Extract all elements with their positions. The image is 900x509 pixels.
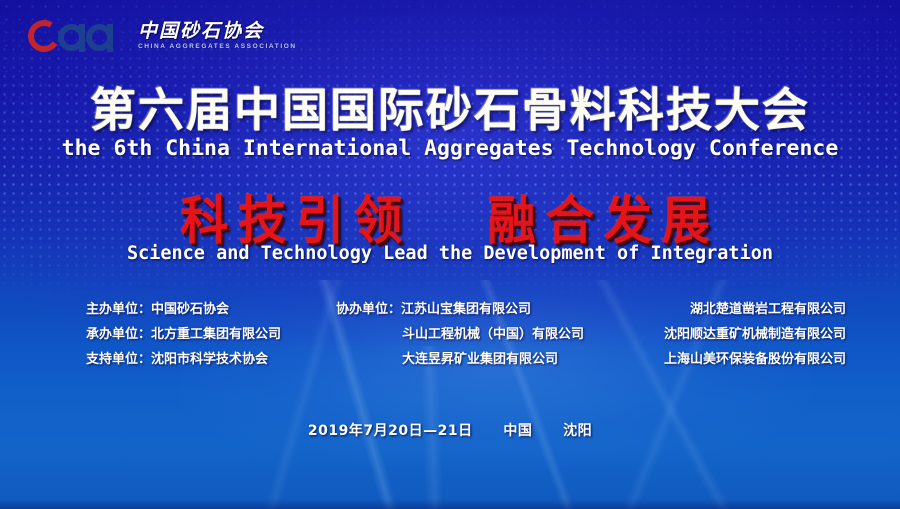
organizer-line: 主办单位：中国砂石协会 [86,297,336,322]
event-city: 沈阳 [563,423,592,439]
event-country: 中国 [503,423,532,439]
logo-english-name: CHINA AGGREGATES ASSOCIATION [138,43,297,50]
organizers-column-1: 主办单位：中国砂石协会 承办单位：北方重工集团有限公司 支持单位：沈阳市科学技术… [86,297,336,372]
background-bottom-vignette [0,499,900,509]
organizer-line: 协办单位：江苏山宝集团有限公司 [336,297,621,322]
event-details: 2019年7月20日—21日 中国 沈阳 [0,420,900,440]
organizer-line: 大连昱昇矿业集团有限公司 [336,347,621,372]
slogan-english: Science and Technology Lead the Developm… [0,243,900,264]
organizer-line: 承办单位：北方重工集团有限公司 [86,322,336,347]
logo-letter-a1-stem-icon [79,24,85,52]
logo-letter-a2-stem-icon [107,24,113,52]
organizers-column-2: 协办单位：江苏山宝集团有限公司 斗山工程机械（中国）有限公司 大连昱昇矿业集团有… [336,297,621,372]
event-date: 2019年7月20日—21日 [308,423,473,439]
organizer-line: 上海山美环保装备股份有限公司 [621,347,846,372]
organizers-block: 主办单位：中国砂石协会 承办单位：北方重工集团有限公司 支持单位：沈阳市科学技术… [86,297,846,372]
organizer-line: 湖北楚道凿岩工程有限公司 [621,297,846,322]
logo-text-block: 中国砂石协会 CHINA AGGREGATES ASSOCIATION [138,22,297,51]
page-subtitle: the 6th China International Aggregates T… [0,136,900,161]
logo-chinese-name: 中国砂石协会 [138,22,297,42]
organizers-column-3: 湖北楚道凿岩工程有限公司 沈阳顺达重矿机械制造有限公司 上海山美环保装备股份有限… [621,297,846,372]
organizer-line: 沈阳顺达重矿机械制造有限公司 [621,322,846,347]
page-title: 第六届中国国际砂石骨料科技大会 [0,74,900,140]
caa-logo-icon [28,18,132,54]
conference-poster: 中国砂石协会 CHINA AGGREGATES ASSOCIATION 第六届中… [0,0,900,509]
organizer-line: 斗山工程机械（中国）有限公司 [336,322,621,347]
organizer-line: 支持单位：沈阳市科学技术协会 [86,347,336,372]
association-logo: 中国砂石协会 CHINA AGGREGATES ASSOCIATION [28,18,297,54]
